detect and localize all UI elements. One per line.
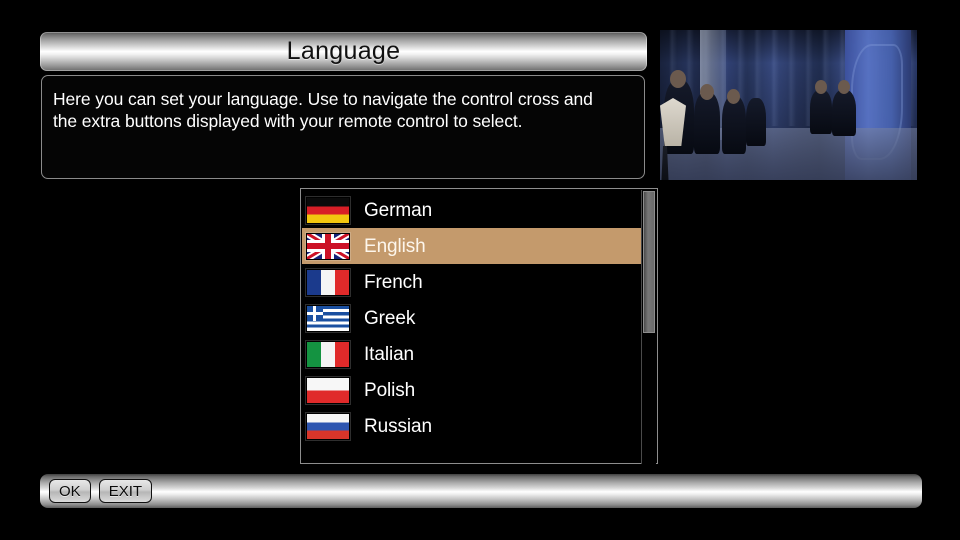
video-crowd-head [727, 89, 740, 104]
video-crowd-person [694, 92, 720, 154]
language-label: Italian [364, 345, 414, 364]
language-list-panel: GermanEnglishFrenchGreekItalianPolishRus… [300, 188, 658, 464]
tv-settings-screen: Language Here you can set your language.… [0, 0, 960, 540]
language-label: Polish [364, 381, 415, 400]
flag-germany-icon [306, 197, 350, 224]
flag-poland-icon [306, 377, 350, 404]
help-info-text: Here you can set your language. Use to n… [53, 88, 632, 132]
language-row-italian[interactable]: Italian [302, 336, 642, 372]
language-label: Greek [364, 309, 415, 328]
language-list: GermanEnglishFrenchGreekItalianPolishRus… [302, 192, 642, 444]
flag-russia-icon [306, 413, 350, 440]
language-row-greek[interactable]: Greek [302, 300, 642, 336]
union-jack-part [307, 243, 349, 249]
language-label: German [364, 201, 432, 220]
exit-button[interactable]: EXIT [99, 479, 152, 503]
language-label: French [364, 273, 423, 292]
scrollbar-thumb[interactable] [643, 191, 655, 333]
video-crowd-person [722, 96, 746, 154]
video-crowd-head [670, 70, 686, 88]
title-bar: Language [40, 32, 647, 71]
language-row-french[interactable]: French [302, 264, 642, 300]
page-title: Language [287, 39, 401, 64]
flag-united-kingdom-icon [306, 233, 350, 260]
video-crowd-head [838, 80, 850, 94]
language-row-german[interactable]: German [302, 192, 642, 228]
flag-italy-icon [306, 341, 350, 368]
language-label: Russian [364, 417, 432, 436]
video-crowd-person [746, 98, 766, 146]
scrollbar-track[interactable] [641, 190, 656, 464]
video-crowd-head [700, 84, 714, 100]
video-crowd-person [832, 90, 856, 136]
video-reporter-shirt [660, 98, 686, 146]
flag-france-icon [306, 269, 350, 296]
video-crowd-head [815, 80, 827, 94]
video-preview[interactable] [660, 30, 917, 180]
help-info-box: Here you can set your language. Use to n… [41, 75, 645, 179]
language-row-russian[interactable]: Russian [302, 408, 642, 444]
video-crowd-person [810, 90, 832, 134]
language-label: English [364, 237, 426, 256]
language-row-polish[interactable]: Polish [302, 372, 642, 408]
flag-greece-icon [306, 305, 350, 332]
ok-button[interactable]: OK [49, 479, 91, 503]
language-row-english[interactable]: English [302, 228, 643, 264]
greek-cross-part [307, 312, 323, 315]
bottom-action-bar: OKEXIT [40, 474, 922, 508]
